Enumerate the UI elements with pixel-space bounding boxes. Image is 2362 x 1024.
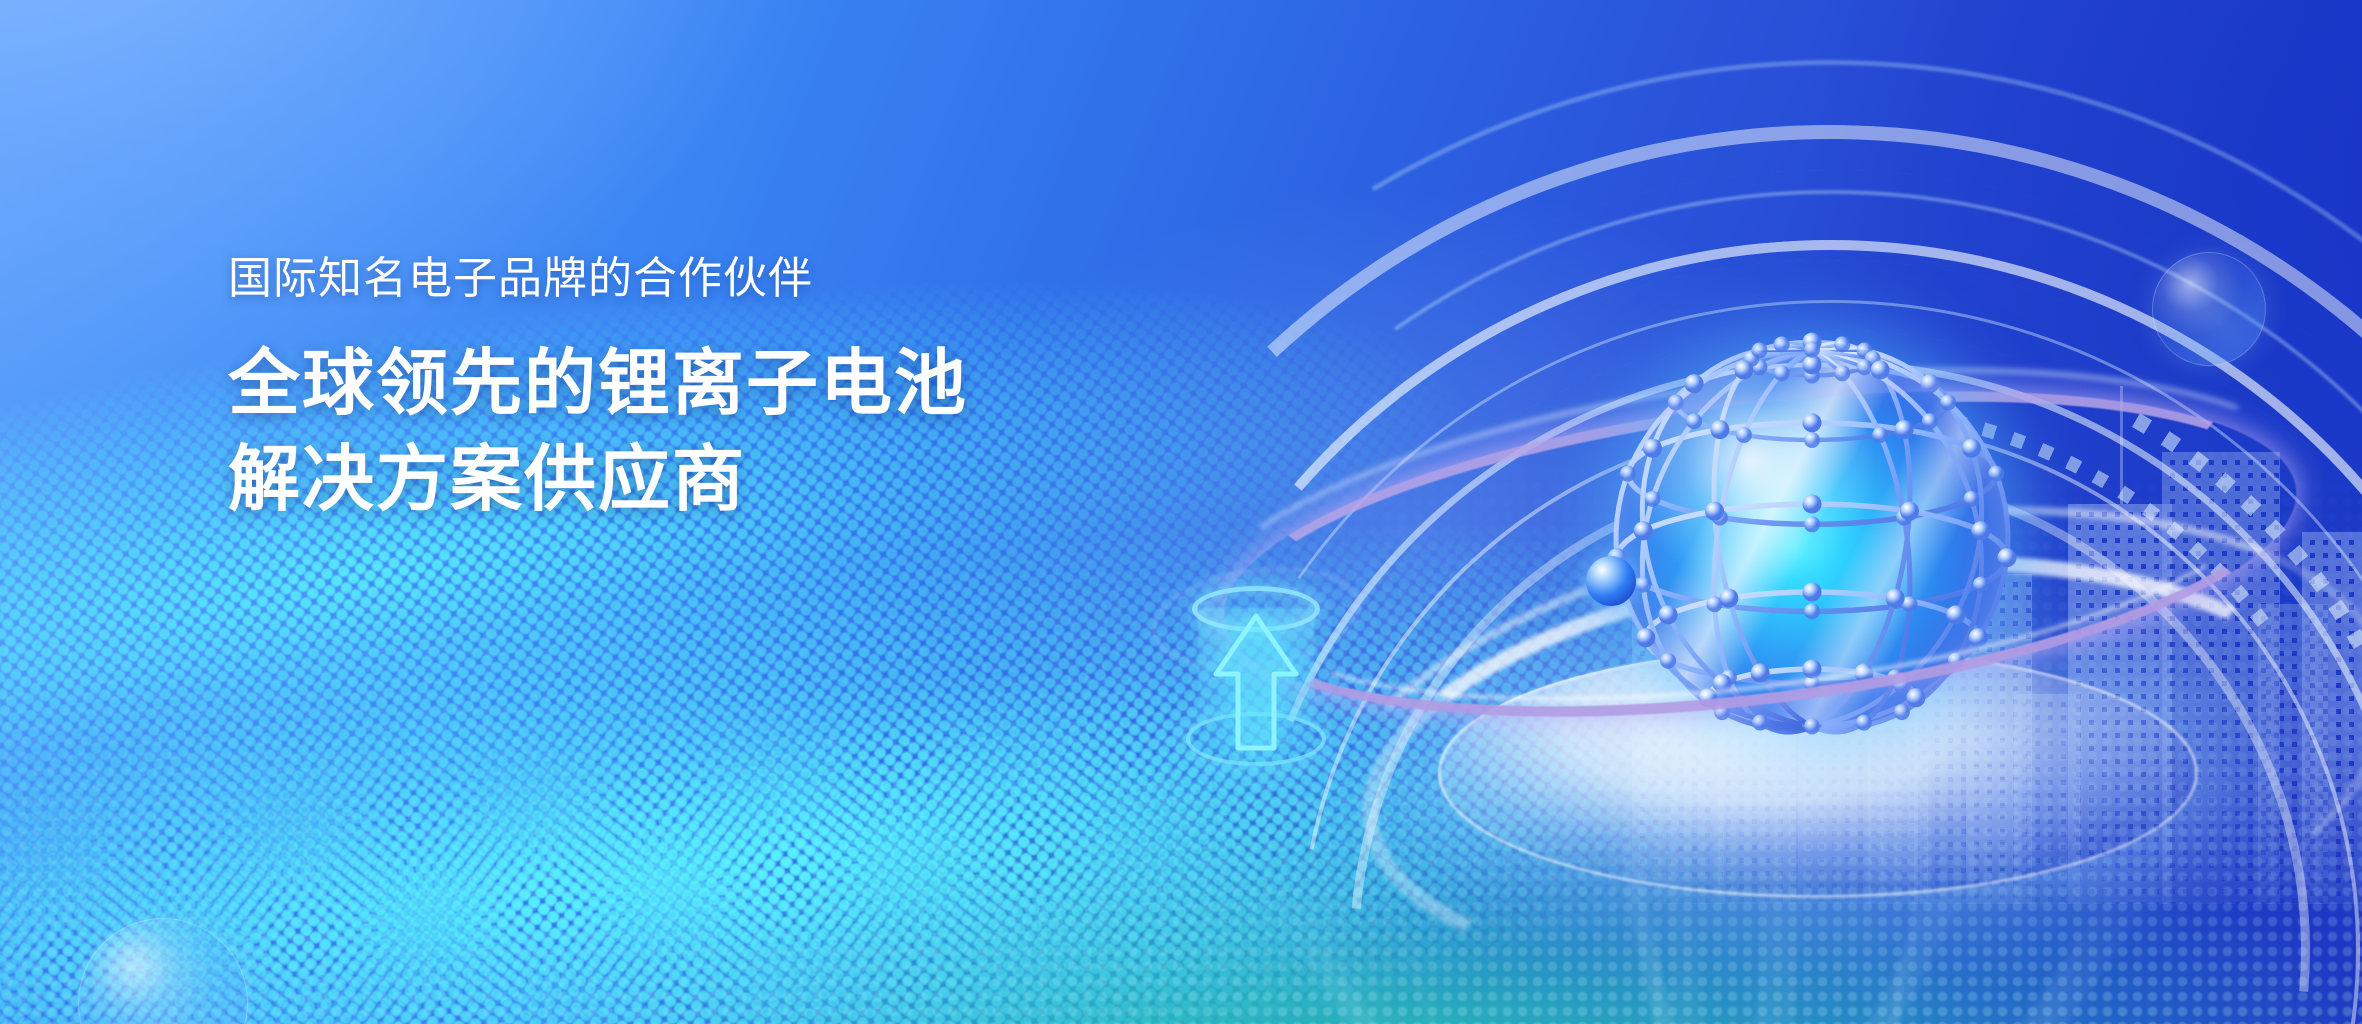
globe-node xyxy=(1997,548,2016,567)
light-ray xyxy=(1354,797,1734,1024)
globe-node xyxy=(1964,491,1980,507)
light-ray xyxy=(1269,831,1746,1024)
globe-meridian-line xyxy=(1616,350,1798,726)
globe-node xyxy=(1668,395,1684,411)
globe-node xyxy=(1900,502,1919,521)
globe-node xyxy=(1948,653,1964,669)
light-ray xyxy=(1651,742,1744,1024)
city-tower xyxy=(2162,452,2280,904)
globe-node xyxy=(1804,516,1820,532)
globe-node xyxy=(1752,359,1768,375)
globe-node xyxy=(1620,466,1636,482)
bubble-icon xyxy=(78,918,248,1024)
globe-node xyxy=(1971,521,1990,540)
globe-node xyxy=(1865,351,1881,367)
globe-node xyxy=(1608,548,1627,567)
globe-node xyxy=(1872,427,1888,443)
globe-node xyxy=(1774,336,1790,352)
light-ray xyxy=(1261,893,1738,1024)
globe-node xyxy=(1743,351,1759,367)
globe-pole-spoke xyxy=(1760,350,1812,351)
hero-copy-block: 国际知名电子品牌的合作伙伴 全球领先的锂离子电池 解决方案供应商 xyxy=(228,252,1228,529)
globe-node xyxy=(1886,589,1905,608)
city-tower xyxy=(2258,604,2328,904)
wireframe-globe-icon xyxy=(1592,318,2032,758)
globe-node xyxy=(1734,361,1753,380)
globe-latitude-line xyxy=(1676,365,1948,440)
globe-node xyxy=(1721,670,1737,686)
globe-pole-spoke xyxy=(1812,350,1864,368)
light-ray xyxy=(1715,858,2165,1024)
globe-node xyxy=(1988,466,2004,482)
globe-node xyxy=(1751,664,1770,683)
globe-latitude-line xyxy=(1617,504,2007,611)
globe-node xyxy=(1685,374,1704,393)
city-tower xyxy=(2068,504,2172,904)
globe-node xyxy=(1643,439,1662,458)
globe-pole-spoke xyxy=(1751,350,1812,359)
globe-wireframe-svg xyxy=(1592,318,2032,758)
up-arrow-icon xyxy=(1212,610,1300,756)
globe-node xyxy=(1803,355,1822,374)
globe-node xyxy=(1719,589,1738,608)
light-ray xyxy=(1726,968,2336,1024)
globe-pole-spoke xyxy=(1812,350,1864,351)
city-tower-spire xyxy=(2120,386,2123,504)
globe-meridian-line xyxy=(1824,348,1982,724)
globe-pole-spoke xyxy=(1812,344,1842,349)
globe-latitude-line xyxy=(1646,592,1978,684)
globe-node xyxy=(1645,491,1661,507)
globe-node xyxy=(1714,704,1730,720)
globe-node xyxy=(1920,374,1939,393)
globe-node xyxy=(1710,420,1729,439)
globe-node xyxy=(1635,577,1651,593)
globe-meridian-line xyxy=(1819,344,1910,723)
hero-headline: 全球领先的锂离子电池 解决方案供应商 xyxy=(228,336,1228,529)
light-ray xyxy=(1725,762,1953,1024)
globe-node xyxy=(1887,670,1903,686)
globe-node xyxy=(1902,596,1918,612)
globe-node xyxy=(1804,676,1820,692)
globe-node xyxy=(1803,583,1822,602)
light-ray xyxy=(1721,802,2130,1024)
portal-tube-icon xyxy=(1198,608,1314,748)
light-ray xyxy=(1254,861,1742,1024)
globe-node xyxy=(1894,704,1910,720)
up-arrow-portal-icon xyxy=(1186,586,1326,776)
globe-node xyxy=(1857,359,1873,375)
light-ray xyxy=(1712,741,1812,1024)
light-ray xyxy=(1717,795,2005,1024)
orbit-marker-sphere-icon xyxy=(1586,556,1636,606)
globe-node xyxy=(1803,413,1822,432)
globe-node xyxy=(1705,502,1724,521)
globe-meridian-line xyxy=(1714,344,1805,723)
globe-meridian-line xyxy=(1642,352,1800,728)
globe-node xyxy=(1699,688,1718,707)
globe-meridian-line xyxy=(1642,348,1800,724)
globe-node xyxy=(1804,342,1820,358)
globe-node xyxy=(1660,653,1676,669)
globe-node xyxy=(1803,333,1822,352)
hero-headline-line-2: 解决方案供应商 xyxy=(228,432,1228,528)
portal-top-ring-icon xyxy=(1192,586,1320,632)
globe-node xyxy=(1892,674,1911,693)
globe-node xyxy=(1712,510,1728,526)
globe-node xyxy=(1659,605,1678,624)
globe-pole-spoke xyxy=(1812,350,1842,374)
globe-node xyxy=(1713,674,1732,693)
globe-node xyxy=(1707,596,1723,612)
globe-latitude-line xyxy=(1628,423,1996,525)
globe-pole-spoke xyxy=(1782,350,1812,374)
globe-node xyxy=(1895,420,1914,439)
globe-node xyxy=(1969,628,1988,647)
globe-node xyxy=(1834,336,1850,352)
globe-node xyxy=(1854,664,1873,683)
portal-halo-icon xyxy=(1146,556,1365,680)
globe-node xyxy=(1803,495,1822,514)
globe-node xyxy=(1636,628,1655,647)
globe-node xyxy=(1804,432,1820,448)
globe-node xyxy=(1871,361,1890,380)
bubble-icon xyxy=(2152,252,2266,366)
globe-node xyxy=(1973,577,1989,593)
globe-node xyxy=(1752,343,1768,359)
light-ray xyxy=(1596,751,1739,1024)
globe-node xyxy=(1634,521,1653,540)
globe-node xyxy=(1736,427,1752,443)
globe-node xyxy=(1686,413,1702,429)
globe-latitude-line xyxy=(1708,669,1916,726)
globe-pole-spoke xyxy=(1812,350,1873,359)
globe-node xyxy=(1896,510,1912,526)
globe-pole-spoke xyxy=(1782,344,1812,349)
city-tower xyxy=(2302,532,2362,904)
globe-node xyxy=(1856,715,1872,731)
globe-meridian-line xyxy=(1824,352,1982,728)
globe-node xyxy=(1752,715,1768,731)
globe-meridian-line xyxy=(1819,353,1910,732)
globe-node xyxy=(1906,688,1925,707)
globe-node xyxy=(1774,365,1790,381)
globe-node xyxy=(1804,368,1820,384)
globe-pole-spoke xyxy=(1760,350,1812,368)
globe-node xyxy=(1922,413,1938,429)
globe-sphere-body xyxy=(1618,344,2006,732)
globe-node xyxy=(1962,439,1981,458)
globe-latitude-line xyxy=(1751,342,1872,375)
globe-node xyxy=(1857,343,1873,359)
hero-headline-line-1: 全球领先的锂离子电池 xyxy=(228,336,1228,432)
globe-node xyxy=(1940,395,1956,411)
hero-banner: 国际知名电子品牌的合作伙伴 全球领先的锂离子电池 解决方案供应商 xyxy=(0,0,2362,1024)
globe-node xyxy=(1834,365,1850,381)
globe-specular-highlight xyxy=(1618,344,2006,732)
globe-node xyxy=(1804,718,1820,734)
globe-node xyxy=(1803,660,1822,679)
globe-node xyxy=(1946,605,1965,624)
globe-node xyxy=(1804,603,1820,619)
hero-subtitle: 国际知名电子品牌的合作伙伴 xyxy=(228,252,1228,306)
light-ray xyxy=(1295,920,1734,1024)
portal-base-ring-icon xyxy=(1186,712,1326,766)
globe-meridian-line xyxy=(1714,353,1805,732)
globe-meridian-line xyxy=(1826,350,2008,726)
